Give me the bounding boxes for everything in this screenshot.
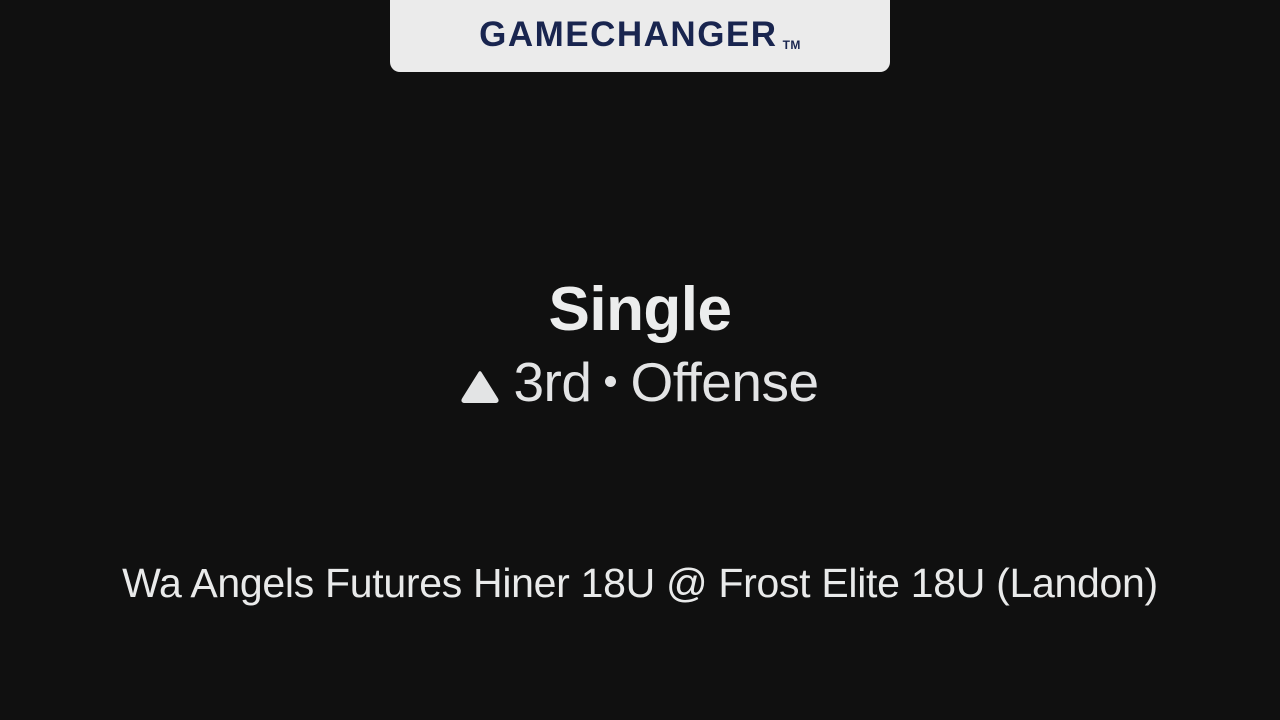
side-label: Offense [630,354,818,411]
play-result-label: Single [0,278,1280,342]
play-summary-card: Single 3rd Offense [0,278,1280,412]
bullet-separator-icon [605,376,616,387]
triangle-up-icon [461,370,499,403]
gamechanger-logo: GAMECHANGER TM [479,17,801,52]
inning-label: 3rd [513,354,591,411]
gamechanger-logo-banner: GAMECHANGER TM [390,0,890,72]
matchup-label: Wa Angels Futures Hiner 18U @ Frost Elit… [0,561,1280,606]
gamechanger-wordmark: GAMECHANGER [479,17,777,52]
play-context-line: 3rd Offense [0,354,1280,411]
trademark-symbol: TM [783,39,801,51]
